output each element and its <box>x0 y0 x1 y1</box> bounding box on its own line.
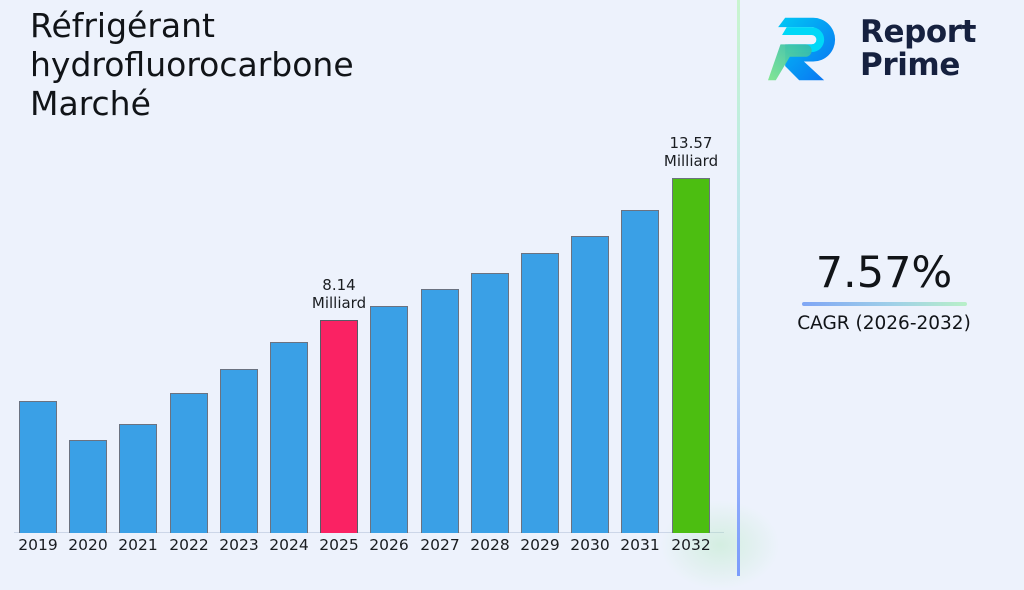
infographic-root: Réfrigérant hydrofluorocarbone Marché 20… <box>0 0 1024 576</box>
report-prime-logo-icon <box>768 10 846 88</box>
cagr-label: CAGR (2026-2032) <box>744 312 1024 336</box>
x-tick-2032: 2032 <box>666 536 716 554</box>
bar-2025[interactable] <box>320 320 358 533</box>
brand-name-line-1: Report <box>860 16 976 49</box>
bar-2024[interactable] <box>270 342 308 533</box>
bar-value-label-2032: 13.57 Milliard <box>650 134 732 170</box>
brand-name: Report Prime <box>860 16 976 82</box>
x-tick-2029: 2029 <box>515 536 565 554</box>
x-tick-2019: 2019 <box>13 536 63 554</box>
bar-2032[interactable] <box>672 178 710 533</box>
x-tick-2021: 2021 <box>113 536 163 554</box>
x-tick-2020: 2020 <box>63 536 113 554</box>
x-tick-2025: 2025 <box>314 536 364 554</box>
bar-chart-plot: 2019202020212022202320242025202620272028… <box>0 0 738 576</box>
x-tick-2024: 2024 <box>264 536 314 554</box>
panel-divider <box>737 0 740 576</box>
cagr-divider <box>802 302 967 306</box>
chart-panel: Réfrigérant hydrofluorocarbone Marché 20… <box>0 0 738 576</box>
bar-value-label-2025: 8.14 Milliard <box>298 276 380 312</box>
bar-2023[interactable] <box>220 369 258 533</box>
side-panel: Report Prime 7.57% CAGR (2026-2032) <box>744 0 1024 576</box>
bar-2028[interactable] <box>471 273 509 533</box>
bar-2019[interactable] <box>19 401 57 533</box>
brand-name-line-2: Prime <box>860 49 976 82</box>
x-tick-2030: 2030 <box>565 536 615 554</box>
bar-2030[interactable] <box>571 236 609 533</box>
x-tick-2028: 2028 <box>465 536 515 554</box>
cagr-value: 7.57% <box>744 248 1024 298</box>
brand-logo: Report Prime <box>768 10 976 88</box>
bar-2021[interactable] <box>119 424 157 533</box>
cagr-block: 7.57% CAGR (2026-2032) <box>744 248 1024 336</box>
bar-2027[interactable] <box>421 289 459 533</box>
bar-2020[interactable] <box>69 440 107 533</box>
bar-2031[interactable] <box>621 210 659 533</box>
x-tick-2031: 2031 <box>615 536 665 554</box>
x-tick-2027: 2027 <box>415 536 465 554</box>
x-tick-2026: 2026 <box>364 536 414 554</box>
bar-2026[interactable] <box>370 306 408 533</box>
bar-2022[interactable] <box>170 393 208 533</box>
bar-2029[interactable] <box>521 253 559 533</box>
x-tick-2022: 2022 <box>164 536 214 554</box>
x-tick-2023: 2023 <box>214 536 264 554</box>
